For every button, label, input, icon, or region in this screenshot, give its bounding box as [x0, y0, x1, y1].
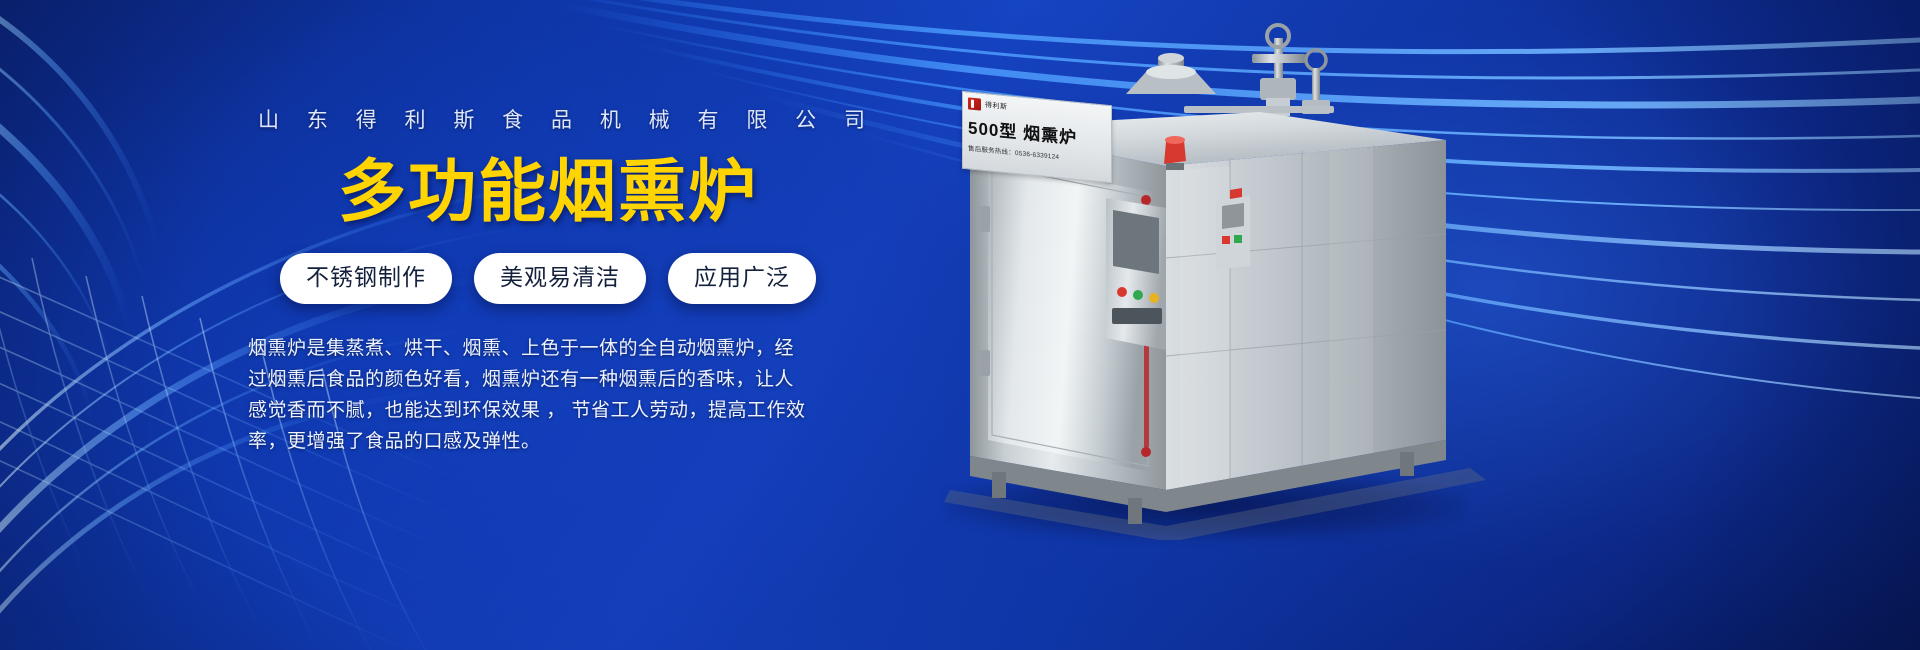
feature-pill-row: 不锈钢制作 美观易清洁 应用广泛 [248, 253, 848, 304]
oven-junction-box [1216, 188, 1250, 270]
feature-pill-wide-application[interactable]: 应用广泛 [668, 253, 816, 304]
feature-pill-easy-clean[interactable]: 美观易清洁 [474, 253, 646, 304]
indicator-light-amber [1149, 293, 1159, 303]
product-label-plate: 得利斯 500型 烟熏炉 售后服务热线：0536-6339124 [962, 91, 1112, 183]
oven-roof-pipework [1126, 25, 1334, 116]
oven-control-cabinet [1106, 198, 1166, 350]
indicator-light-green [1133, 290, 1143, 300]
brand-logo-icon [968, 97, 981, 110]
banner-text-block: 山 东 得 利 斯 食 品 机 械 有 限 公 司 多功能烟熏炉 不锈钢制作 美… [248, 104, 848, 458]
control-keypad [1112, 308, 1162, 324]
product-description: 烟熏炉是集蒸煮、烘干、烟熏、上色于一体的全自动烟熏炉，经过烟熏后食品的颜色好看，… [248, 334, 808, 457]
alarm-beacon [1164, 136, 1186, 170]
feature-pill-stainless-steel[interactable]: 不锈钢制作 [280, 253, 452, 304]
promo-banner: 山 东 得 利 斯 食 品 机 械 有 限 公 司 多功能烟熏炉 不锈钢制作 美… [0, 0, 1920, 650]
indicator-light-red [1117, 287, 1127, 297]
plate-brand-name: 得利斯 [985, 100, 1008, 112]
page-title: 多功能烟熏炉 [248, 156, 848, 229]
company-name: 山 东 得 利 斯 食 品 机 械 有 限 公 司 [248, 104, 848, 134]
control-panel-display [1113, 210, 1159, 274]
